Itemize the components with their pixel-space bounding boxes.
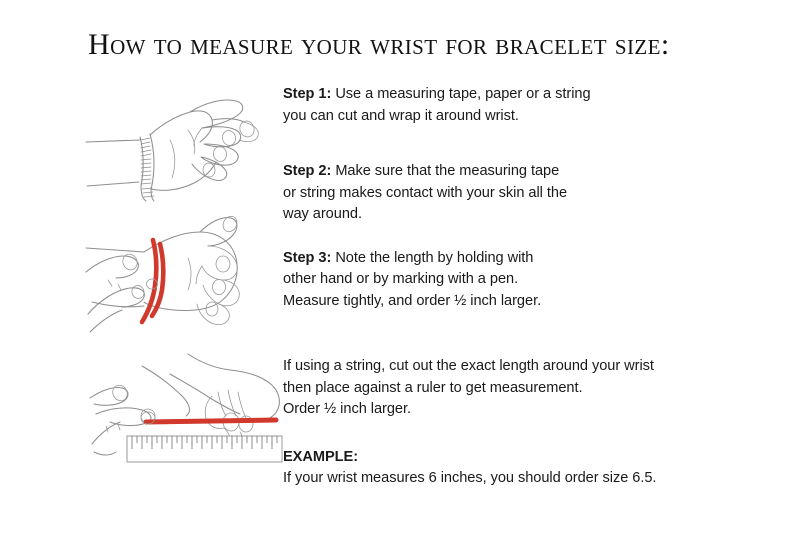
fist-with-red-string-illustration — [84, 210, 279, 338]
string-note-line-3: Order ½ inch larger. — [283, 399, 733, 421]
hand-with-measuring-tape-illustration — [84, 82, 279, 202]
step-2-label: Step 2: — [283, 163, 331, 179]
string-note-line-1: If using a string, cut out the exact len… — [283, 356, 733, 378]
infographic-page: How to measure your wrist for bracelet s… — [0, 0, 794, 546]
string-method-paragraph: If using a string, cut out the exact len… — [283, 356, 733, 421]
step-1-line-1: Use a measuring tape, paper or a string — [331, 86, 590, 102]
step-3-line-3: Measure tightly, and order ½ inch larger… — [283, 291, 733, 313]
example-paragraph: EXAMPLE: If your wrist measures 6 inches… — [283, 447, 733, 490]
step-3-paragraph: Step 3: Note the length by holding with … — [283, 248, 733, 313]
step-1-label: Step 1: — [283, 86, 331, 102]
string-note-line-2: then place against a ruler to get measur… — [283, 378, 733, 400]
step-3-label: Step 3: — [283, 250, 331, 266]
instructions-column: Step 1: Use a measuring tape, paper or a… — [283, 84, 733, 490]
step-1-paragraph: Step 1: Use a measuring tape, paper or a… — [283, 84, 733, 127]
red-string-on-ruler-illustration — [80, 352, 285, 492]
step-2-line-3: way around. — [283, 204, 733, 226]
example-heading: EXAMPLE: — [283, 447, 733, 469]
step-3-line-2: other hand or by marking with a pen. — [283, 269, 733, 291]
step-1-line-2: you can cut and wrap it around wrist. — [283, 106, 733, 128]
step-2-line-1: Make sure that the measuring tape — [331, 163, 559, 179]
example-line-1: If your wrist measures 6 inches, you sho… — [283, 468, 733, 490]
page-title: How to measure your wrist for bracelet s… — [88, 28, 728, 62]
step-2-paragraph: Step 2: Make sure that the measuring tap… — [283, 161, 733, 226]
step-3-line-1: Note the length by holding with — [331, 250, 533, 266]
step-2-line-2: or string makes contact with your skin a… — [283, 183, 733, 205]
